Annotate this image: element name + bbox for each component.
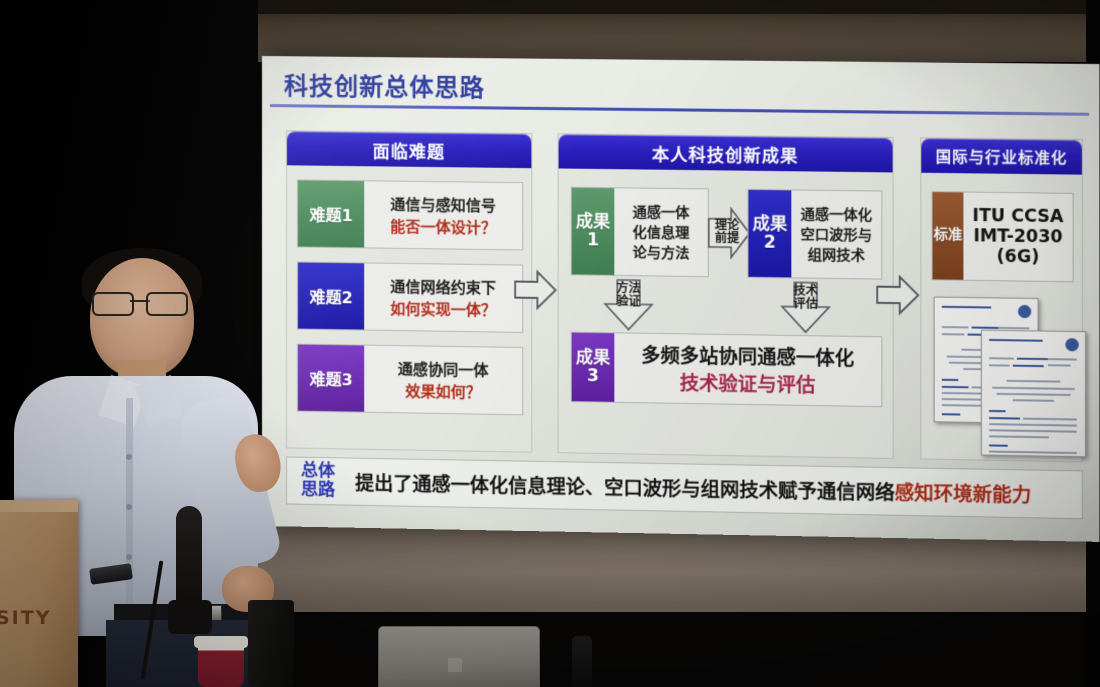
standard-line2: IMT-2030 [973,226,1062,248]
arrow-technical-assessment-label: 技术 评估 [787,284,824,311]
standard-tag: 标准 [933,192,964,280]
speaker-glasses-icon [92,292,188,312]
achievement-1-tag-word: 成果 [576,213,610,232]
panel-standardization: 国际与行业标准化 标准 ITU CCSA IMT-2030 (6G) [920,137,1083,462]
problem-3-tag: 难题3 [298,345,364,412]
achievement-row-3: 成果 3 多频多站协同通感一体化 技术验证与评估 [571,332,883,408]
panel-problems: 面临难题 难题1 通信与感知信号 能否一体设计？ 难题2 通信网络约束下 如何实… [286,130,532,452]
panel-problems-header: 面临难题 [287,131,531,168]
achievement-1-body: 通感一体 化信息理 论与方法 [614,188,707,276]
achievement-2-line2: 空口波形与 [801,224,873,245]
photo-scene: 科技创新总体思路 面临难题 难题1 通信与感知信号 能否一体设计？ 难题2 通信… [0,0,1100,687]
title-divider [270,104,1089,116]
achievement-1-line3: 论与方法 [633,242,690,263]
achievement-2-line3: 组网技术 [808,244,865,265]
problem-2-tag: 难题2 [298,262,364,329]
microphone-base [168,600,212,634]
podium-label: SITY [0,607,66,629]
panel-achievements-header: 本人科技创新成果 [559,134,893,172]
wall-shadow-strip [258,0,1100,14]
achievement-3-line1: 多频多站协同通感一体化 [641,341,854,372]
achievement-row-1: 成果 1 通感一体 化信息理 论与方法 [571,187,709,277]
water-bottle [572,636,592,687]
achievement-3-body: 多频多站协同通感一体化 技术验证与评估 [614,333,881,406]
waste-bin [248,600,294,687]
problem-2-body: 通信网络约束下 如何实现一体？ [364,263,522,332]
standard-line3: (6G) [997,247,1040,268]
summary-tag-line1: 总体 [301,462,335,482]
slide-canvas: 科技创新总体思路 面临难题 难题1 通信与感知信号 能否一体设计？ 难题2 通信… [262,56,1099,542]
problem-2-line2: 如何实现一体？ [390,297,496,320]
arrow-theory-premise-label: 理论 前提 [711,219,744,246]
summary-bar: 总体 思路 提出了通感一体化信息理论、空口波形与组网技术赋予通信网络感知环境新能… [286,456,1083,519]
summary-text-red: 感知环境新能力 [895,478,1032,508]
standard-row: 标准 ITU CCSA IMT-2030 (6G) [932,191,1074,282]
achievement-3-tag: 成果 3 [572,333,615,402]
problem-2-line1: 通信网络约束下 [390,275,496,298]
summary-tag-line2: 思路 [301,481,335,501]
document-thumbnail-2 [981,330,1086,458]
problem-3-line1: 通感协同一体 [398,358,489,381]
arrow-middle-to-right-icon [875,272,920,317]
panel-achievements: 本人科技创新成果 成果 1 通感一体 化信息理 论与方法 [558,133,894,459]
problem-row-2: 难题2 通信网络约束下 如何实现一体？ [297,261,523,332]
problem-1-body: 通信与感知信号 能否一体设计？ [364,181,522,249]
panel-standardization-header: 国际与行业标准化 [921,138,1082,174]
arrow-method-validation-label: 方法 验证 [610,282,647,309]
achievement-row-2: 成果 2 通感一体化 空口波形与 组网技术 [747,189,882,280]
standard-documents-thumbnails [927,292,1077,455]
achievement-1-tag: 成果 1 [572,188,615,275]
problem-1-tag: 难题1 [298,180,364,247]
achievement-1-line2: 化信息理 [633,222,690,243]
achievement-2-body: 通感一体化 空口波形与 组网技术 [791,190,881,278]
problem-row-3: 难题3 通感协同一体 效果如何？ [297,344,523,416]
achievement-2-tag-word: 成果 [753,215,788,234]
problem-row-1: 难题1 通信与感知信号 能否一体设计？ [297,179,523,250]
podium-top-surface [0,500,78,512]
standard-body: ITU CCSA IMT-2030 (6G) [963,193,1072,282]
summary-tag: 总体 思路 [287,461,349,500]
itu-logo-icon [1018,305,1031,318]
projection-screen: 科技创新总体思路 面临难题 难题1 通信与感知信号 能否一体设计？ 难题2 通信… [262,56,1099,542]
achievement-1-tag-num: 1 [587,231,599,250]
slide-title: 科技创新总体思路 [284,66,485,103]
problem-3-body: 通感协同一体 效果如何？ [364,346,522,415]
problem-1-line1: 通信与感知信号 [390,193,496,215]
problem-3-line2: 效果如何？ [405,380,481,402]
achievement-3-tag-word: 成果 [576,348,610,367]
laptop-logo-icon [448,658,462,672]
speaker-shirt-placket [126,398,133,628]
achievement-3-line2: 技术验证与评估 [680,369,816,398]
summary-text-black: 提出了通感一体化信息理论、空口波形与组网技术赋予通信网络 [355,468,895,505]
achievement-2-line1: 通感一体化 [801,204,873,225]
arrow-left-to-middle-icon [513,267,557,312]
laptop [378,626,540,687]
achievement-3-tag-num: 3 [587,367,599,386]
podium [0,500,78,687]
summary-text: 提出了通感一体化信息理论、空口波形与组网技术赋予通信网络感知环境新能力 [349,468,1082,508]
coffee-cup-lid [194,636,248,648]
standard-line1: ITU CCSA [973,206,1064,227]
problem-1-line2: 能否一体设计？ [390,215,496,237]
achievement-2-tag-num: 2 [764,234,776,253]
achievement-1-line1: 通感一体 [633,202,690,223]
achievement-2-tag: 成果 2 [748,190,791,277]
itu-logo-icon-2 [1065,338,1078,351]
